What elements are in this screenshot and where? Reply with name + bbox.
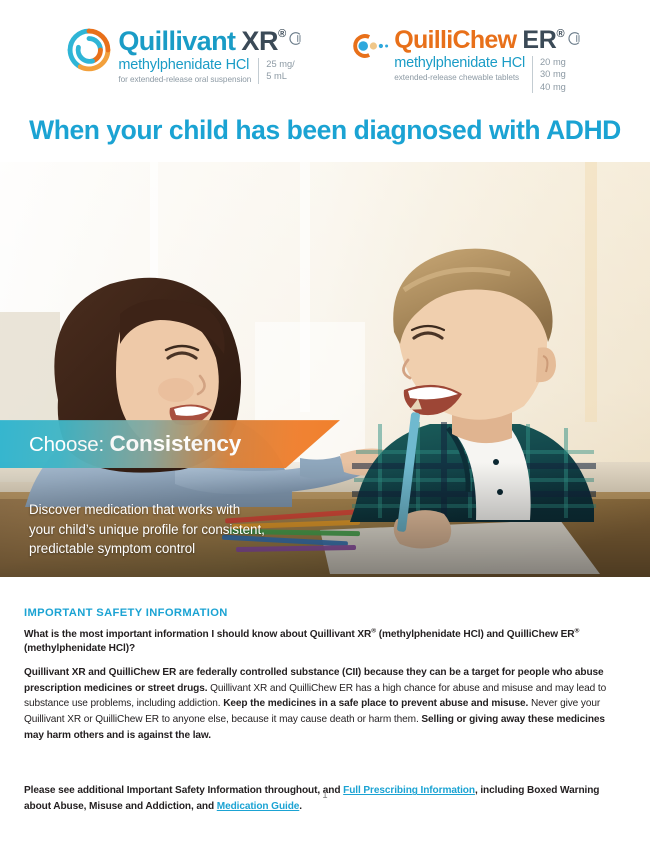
safety-heading: IMPORTANT SAFETY INFORMATION — [24, 607, 626, 619]
quillichew-brand-name: QuilliChew — [394, 28, 516, 53]
hero-subtitle-line-2: your child’s unique profile for consiste… — [29, 520, 265, 540]
quillivant-spiral-icon — [67, 28, 111, 72]
hero-subtitle-line-1: Discover medication that works with — [29, 500, 265, 520]
quillivant-dose-block: 25 mg/ 5 mL — [258, 58, 294, 84]
quillichew-dose-line-2: 30 mg — [540, 68, 566, 80]
choose-banner-text: Choose: Consistency — [29, 431, 241, 457]
page-headline: When your child has been diagnosed with … — [0, 116, 650, 145]
page-number: 1 — [0, 789, 650, 800]
footer-part-3: . — [299, 801, 302, 812]
quillivant-subtitle-row: methylphenidate HCl for extended-release… — [118, 58, 304, 84]
quillichew-wordmark: QuilliChew ER ® — [394, 28, 582, 53]
quillivant-logo-lockup: Quillivant XR ® methylphenidate HCl for … — [67, 26, 304, 84]
quillichew-registered-mark: ® — [557, 29, 565, 40]
quillivant-dose-line-2: 5 mL — [266, 70, 294, 82]
safety-question-prefix: What is the most important information I… — [24, 629, 371, 640]
quillichew-generic-name: methylphenidate HCl — [394, 56, 525, 72]
safety-question-mid: (methylphenidate HCl) and QuilliChew ER — [376, 629, 574, 640]
quillichew-descriptor: extended-release chewable tablets — [394, 73, 525, 82]
hero-section: Choose: Consistency Discover medication … — [0, 162, 650, 577]
quillivant-wordmark: Quillivant XR ® — [118, 28, 304, 55]
quillivant-dose-line-1: 25 mg/ — [266, 58, 294, 70]
hero-subtitle-line-3: predictable symptom control — [29, 539, 265, 559]
quillivant-generic-name: methylphenidate HCl — [118, 58, 251, 74]
quillivant-brand-suffix: XR — [241, 28, 278, 55]
safety-question-suffix: (methylphenidate HCl)? — [24, 643, 135, 654]
logo-header: Quillivant XR ® methylphenidate HCl for … — [0, 0, 650, 98]
quillichew-dose-line-1: 20 mg — [540, 56, 566, 68]
safety-question-reg-2: ® — [574, 628, 579, 635]
cii-schedule-icon — [568, 31, 583, 46]
quillichew-dots-icon — [350, 31, 392, 61]
choose-label: Choose: — [29, 433, 104, 456]
quillivant-text-block: Quillivant XR ® methylphenidate HCl for … — [118, 26, 304, 84]
cii-schedule-icon — [289, 31, 304, 46]
quillichew-subtitle-row: methylphenidate HCl extended-release che… — [394, 56, 582, 93]
quillichew-dose-line-3: 40 mg — [540, 81, 566, 93]
choose-consistency-banner: Choose: Consistency — [0, 420, 340, 468]
quillivant-registered-mark: ® — [278, 29, 286, 40]
important-safety-information-section: IMPORTANT SAFETY INFORMATION What is the… — [0, 577, 650, 814]
safety-body-text: Quillivant XR and QuilliChew ER are fede… — [24, 665, 626, 744]
hero-subtitle: Discover medication that works with your… — [29, 500, 265, 559]
quillivant-brand-name: Quillivant — [118, 28, 235, 55]
quillichew-logo-lockup: QuilliChew ER ® methylphenidate HCl exte… — [350, 26, 582, 93]
safety-question: What is the most important information I… — [24, 628, 626, 657]
medication-guide-link[interactable]: Medication Guide — [217, 801, 300, 812]
quillichew-brand-suffix: ER — [522, 28, 556, 53]
choose-emphasis: Consistency — [109, 431, 241, 456]
quillichew-text-block: QuilliChew ER ® methylphenidate HCl exte… — [394, 26, 582, 93]
quillichew-dose-block: 20 mg 30 mg 40 mg — [532, 56, 566, 93]
quillivant-descriptor: for extended-release oral suspension — [118, 75, 251, 84]
safety-body-bold-2: Keep the medicines in a safe place to pr… — [223, 698, 528, 709]
